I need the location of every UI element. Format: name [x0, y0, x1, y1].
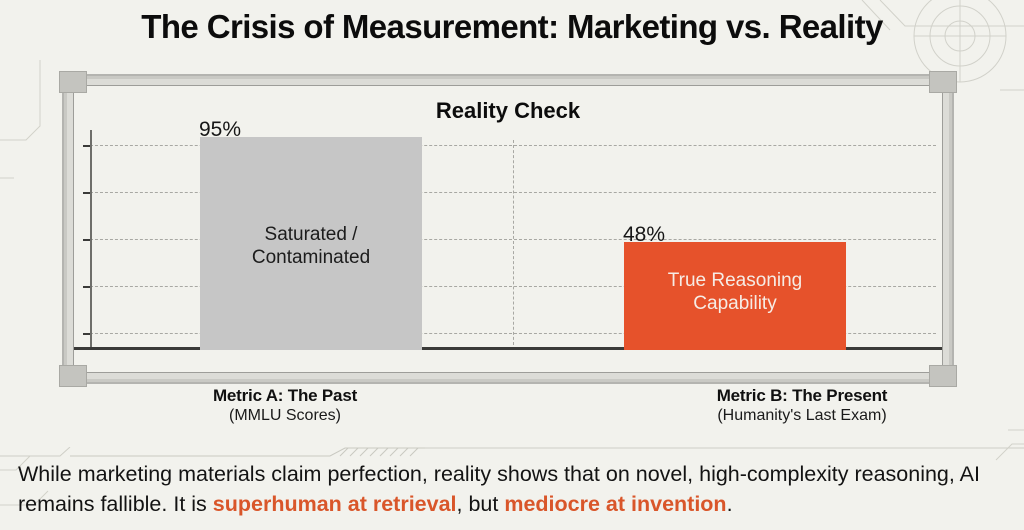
section-divider — [0, 447, 1024, 459]
caption-highlight-retrieval: superhuman at retrieval — [213, 492, 457, 516]
category-label-metric-a-main: Metric A: The Past — [125, 386, 445, 406]
gridline-v-center — [513, 140, 514, 350]
chart-title: Reality Check — [74, 98, 942, 124]
bar-metric-b[interactable]: True Reasoning Capability — [624, 242, 846, 350]
category-label-metric-b-main: Metric B: The Present — [642, 386, 962, 406]
frame-corner-bottom-left — [59, 365, 87, 387]
bar-inner-label-a-line2: Contaminated — [252, 247, 370, 268]
bar-inner-label-b-line1: True Reasoning — [668, 270, 802, 291]
category-label-metric-b-sub: (Humanity's Last Exam) — [642, 407, 962, 425]
category-label-metric-b: Metric B: The Present (Humanity's Last E… — [642, 386, 962, 425]
bar-inner-label-a-line1: Saturated / — [265, 224, 358, 245]
caption-highlight-invention: mediocre at invention — [504, 492, 726, 516]
bar-inner-label-b-line2: Capability — [693, 293, 776, 314]
frame-corner-bottom-right — [929, 365, 957, 387]
y-axis-line — [90, 130, 92, 350]
frame-corner-top-right — [929, 71, 957, 93]
category-label-metric-a: Metric A: The Past (MMLU Scores) — [125, 386, 445, 425]
chart-panel: Reality Check 95% Saturated / Contam — [62, 74, 954, 384]
plot: 95% Saturated / Contaminated 48% True Re… — [90, 140, 936, 350]
caption-part-3: . — [727, 492, 733, 516]
frame-corner-top-left — [59, 71, 87, 93]
bar-inner-label-b: True Reasoning Capability — [624, 269, 846, 315]
x-axis-category-labels: Metric A: The Past (MMLU Scores) Metric … — [62, 386, 954, 430]
category-label-metric-a-sub: (MMLU Scores) — [125, 407, 445, 425]
chart-plot-area: Reality Check 95% Saturated / Contam — [73, 85, 943, 373]
page-title: The Crisis of Measurement: Marketing vs.… — [0, 8, 1024, 46]
caption-part-2: , but — [457, 492, 505, 516]
bar-metric-a[interactable]: Saturated / Contaminated — [200, 137, 422, 350]
bar-inner-label-a: Saturated / Contaminated — [200, 223, 422, 269]
caption-text: While marketing materials claim perfecti… — [18, 460, 1008, 519]
